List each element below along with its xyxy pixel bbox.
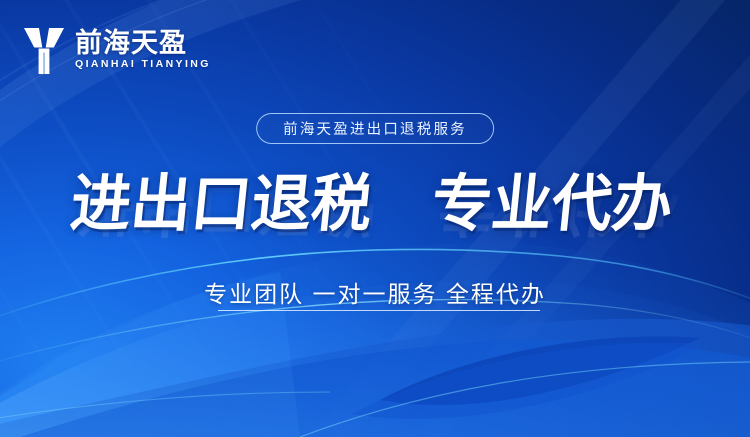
brand-wordmark: 前海天盈 QIANHAI TIANYING <box>75 30 211 70</box>
service-badge: 前海天盈进出口退税服务 <box>256 113 494 144</box>
headline-text: 进出口退税 专业代办 <box>68 172 676 236</box>
headline-container: 进出口退税 专业代办 <box>0 172 750 236</box>
brand-name-en: QIANHAI TIANYING <box>75 59 211 70</box>
brand-logo[interactable]: 前海天盈 QIANHAI TIANYING <box>24 26 211 74</box>
subtitle-text: 专业团队 一对一服务 全程代办 <box>0 275 750 309</box>
promo-banner: 前海天盈 QIANHAI TIANYING 前海天盈进出口退税服务 进出口退税 … <box>0 0 750 437</box>
qianhai-tianying-y-mark-icon <box>24 26 64 74</box>
subtitle-divider <box>218 310 540 311</box>
brand-name-cn: 前海天盈 <box>75 30 211 57</box>
